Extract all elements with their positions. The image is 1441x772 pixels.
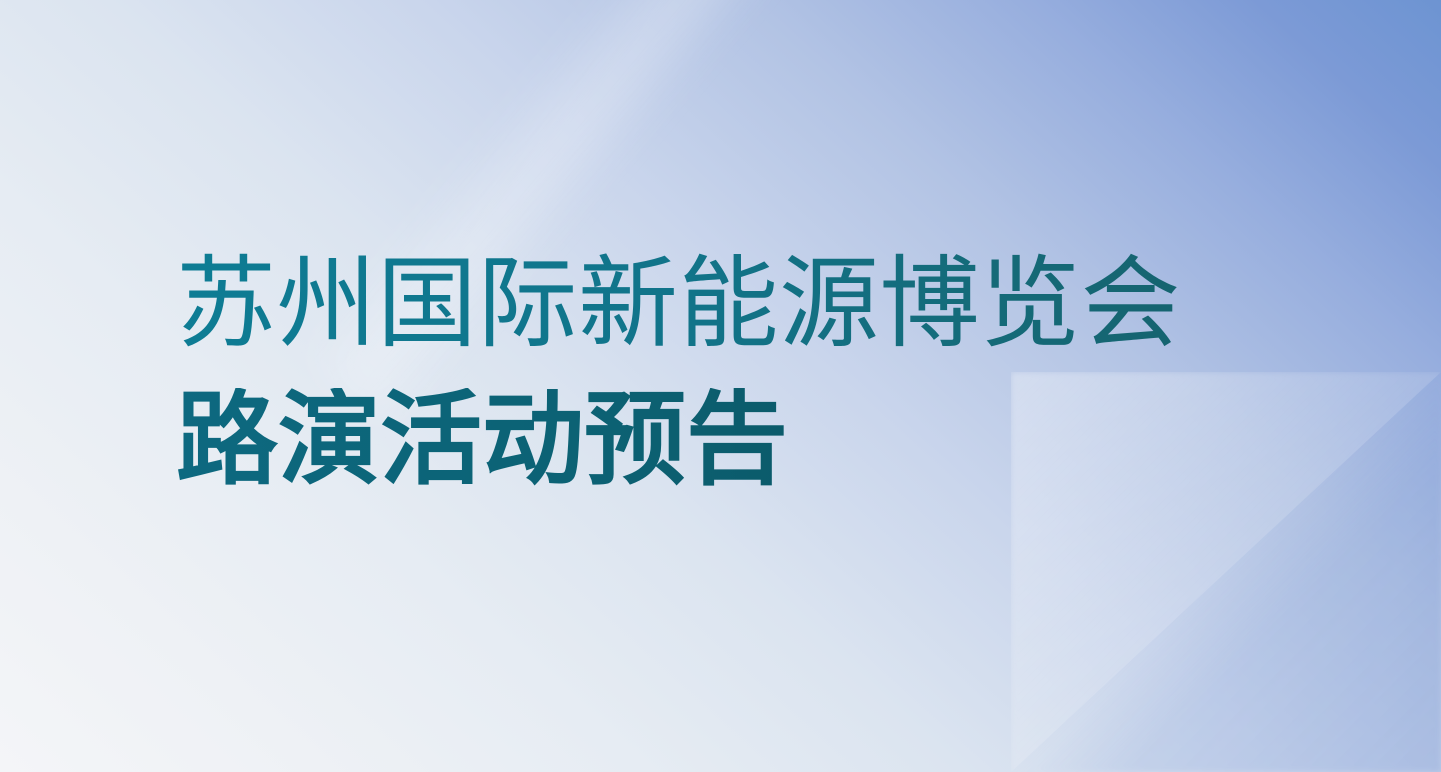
headline-primary-title: 苏州国际新能源博览会: [176, 248, 1276, 360]
headline-block: 苏州国际新能源博览会 路演活动预告: [176, 248, 1276, 492]
headline-secondary-title: 路演活动预告: [176, 388, 1276, 492]
poster-canvas: 苏州国际新能源博览会 路演活动预告: [0, 0, 1441, 772]
